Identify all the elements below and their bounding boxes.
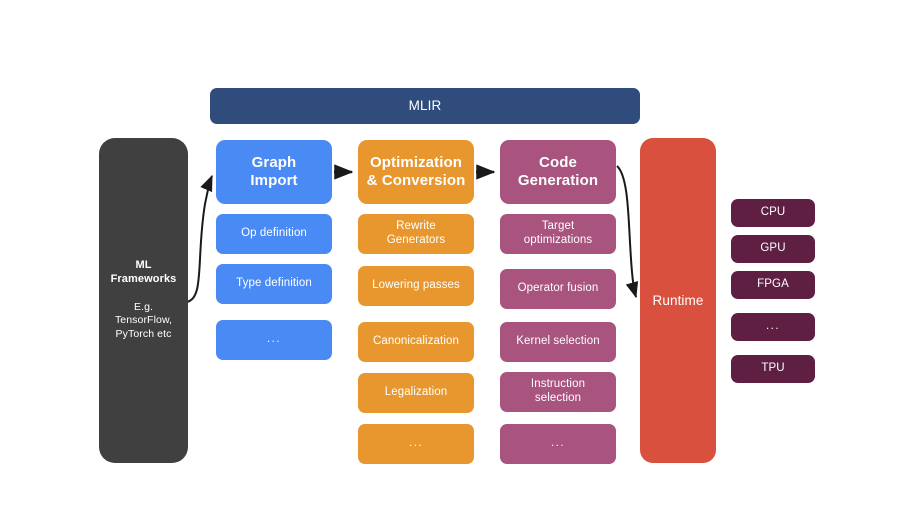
stage-head-code-generation: Code Generation (500, 140, 616, 204)
item-kernel-selection: Kernel selection (500, 322, 616, 362)
target-fpga: FPGA (731, 271, 815, 299)
target-more: ... (731, 313, 815, 341)
target-cpu: CPU (731, 199, 815, 227)
arrow-code-generation-to-runtime (617, 166, 636, 297)
runtime-block: Runtime (640, 138, 716, 463)
stage-head-optimization-conversion: Optimization & Conversion (358, 140, 474, 204)
item-legalization: Legalization (358, 373, 474, 413)
item-lowering-passes: Lowering passes (358, 266, 474, 306)
item-optimization-more: ... (358, 424, 474, 464)
item-graph-import-more: ... (216, 320, 332, 360)
item-instruction-selection: Instruction selection (500, 372, 616, 412)
item-operator-fusion: Operator fusion (500, 269, 616, 309)
item-target-optimizations: Target optimizations (500, 214, 616, 254)
ml-frameworks-title: ML Frameworks (111, 259, 177, 287)
mlir-banner: MLIR (210, 88, 640, 124)
ml-frameworks-subtitle: E.g. TensorFlow, PyTorch etc (115, 301, 172, 342)
ml-frameworks-block: ML Frameworks E.g. TensorFlow, PyTorch e… (99, 138, 188, 463)
item-type-definition: Type definition (216, 264, 332, 304)
arrow-frameworks-to-graph-import (186, 176, 212, 302)
item-op-definition: Op definition (216, 214, 332, 254)
diagram-canvas: MLIR ML Frameworks E.g. TensorFlow, PyTo… (0, 0, 900, 505)
item-code-generation-more: ... (500, 424, 616, 464)
item-rewrite-generators: Rewrite Generators (358, 214, 474, 254)
target-tpu: TPU (731, 355, 815, 383)
stage-head-graph-import: Graph Import (216, 140, 332, 204)
target-gpu: GPU (731, 235, 815, 263)
item-canonicalization: Canonicalization (358, 322, 474, 362)
